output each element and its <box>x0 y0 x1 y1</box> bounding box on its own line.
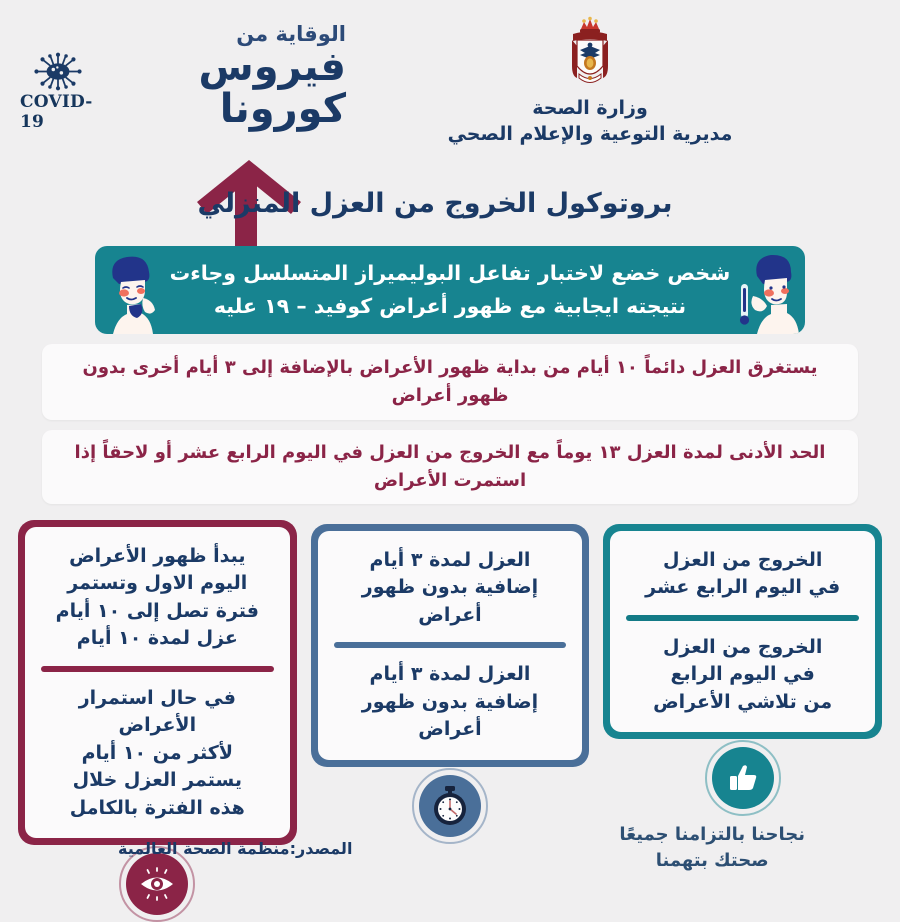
slogan-line-1: نجاحنا بالتزامنا جميعًا <box>619 822 805 848</box>
case-definition-text: شخص خضع لاختبار تفاعل البوليميراز المتسل… <box>161 257 739 323</box>
card-maroon-divider <box>41 666 274 672</box>
header: COVID-19 الوقاية من فيروس كورونا <box>0 0 900 150</box>
minimum-isolation-row: الحد الأدنى لمدة العزل ١٣ يوماً مع الخرو… <box>42 430 858 504</box>
card-maroon: يبدأ ظهور الأعراض اليوم الاول وتستمر فتر… <box>18 520 297 846</box>
card-teal-top-text: الخروج من العزل في اليوم الرابع عشر <box>622 547 863 602</box>
badge-wrap-teal <box>603 747 882 809</box>
card-blue-bottom-text: العزل لمدة ٣ أيام إضافية بدون ظهور أعراض <box>330 661 571 744</box>
ministry-name: وزارة الصحة <box>430 96 750 122</box>
case-definition-banner: شخص خضع لاختبار تفاعل البوليميراز المتسل… <box>95 246 805 334</box>
card-maroon-top-text: يبدأ ظهور الأعراض اليوم الاول وتستمر فتر… <box>37 543 278 653</box>
card-blue-top-text: العزل لمدة ٣ أيام إضافية بدون ظهور أعراض <box>330 547 571 630</box>
column-blue: العزل لمدة ٣ أيام إضافية بدون ظهور أعراض… <box>311 520 590 837</box>
slogan: نجاحنا بالتزامنا جميعًا صحتك بتهمنا <box>619 822 805 874</box>
card-teal-divider <box>626 615 859 621</box>
card-blue-divider <box>334 642 567 648</box>
card-teal-bottom-text: الخروج من العزل في اليوم الرابع من تلاشي… <box>622 634 863 717</box>
isolation-duration-row: يستغرق العزل دائماً ١٠ أيام من بداية ظهو… <box>42 344 858 420</box>
ministry-block: وزارة الصحة مديرية التوعية والإعلام الصح… <box>430 16 750 147</box>
thumbs-up-icon-svg <box>725 760 761 796</box>
card-blue-inner: العزل لمدة ٣ أيام إضافية بدون ظهور أعراض… <box>318 531 583 760</box>
corona-virus-label: فيروس كورونا <box>96 46 346 130</box>
covid-prevention-logo: COVID-19 الوقاية من فيروس كورونا <box>20 32 350 132</box>
prevention-label: الوقاية من <box>96 23 346 46</box>
thumbs-up-icon <box>712 747 774 809</box>
title-row: بروتوكول الخروج من العزل المنزلي <box>0 158 900 238</box>
jordan-coat-of-arms-icon <box>553 16 627 92</box>
coronavirus-icon-svg <box>20 52 96 91</box>
card-maroon-bottom-text: في حال استمرار الأعراض لأكثر من ١٠ أيام … <box>37 685 278 823</box>
footer: المصدر:منظمة الصحة العالمية نجاحنا بالتز… <box>0 816 900 886</box>
source-label: المصدر:منظمة الصحة العالمية <box>118 839 352 858</box>
page-title: بروتوكول الخروج من العزل المنزلي <box>0 188 900 219</box>
sick-person-coughing-icon <box>97 248 167 334</box>
card-teal: الخروج من العزل في اليوم الرابع عشر الخر… <box>603 524 882 740</box>
coronavirus-icon: COVID-19 <box>20 52 96 132</box>
card-blue: العزل لمدة ٣ أيام إضافية بدون ظهور أعراض… <box>311 524 590 767</box>
card-teal-inner: الخروج من العزل في اليوم الرابع عشر الخر… <box>610 531 875 733</box>
covid-19-label: COVID-19 <box>20 92 96 132</box>
covid-logo-arabic-text: الوقاية من فيروس كورونا <box>96 23 346 130</box>
card-maroon-inner: يبدأ ظهور الأعراض اليوم الاول وتستمر فتر… <box>25 527 290 839</box>
slogan-line-2: صحتك بتهمنا <box>619 848 805 874</box>
infographic-page: COVID-19 الوقاية من فيروس كورونا <box>0 0 900 900</box>
column-teal: الخروج من العزل في اليوم الرابع عشر الخر… <box>603 520 882 810</box>
directorate-name: مديرية التوعية والإعلام الصحي <box>430 122 750 148</box>
